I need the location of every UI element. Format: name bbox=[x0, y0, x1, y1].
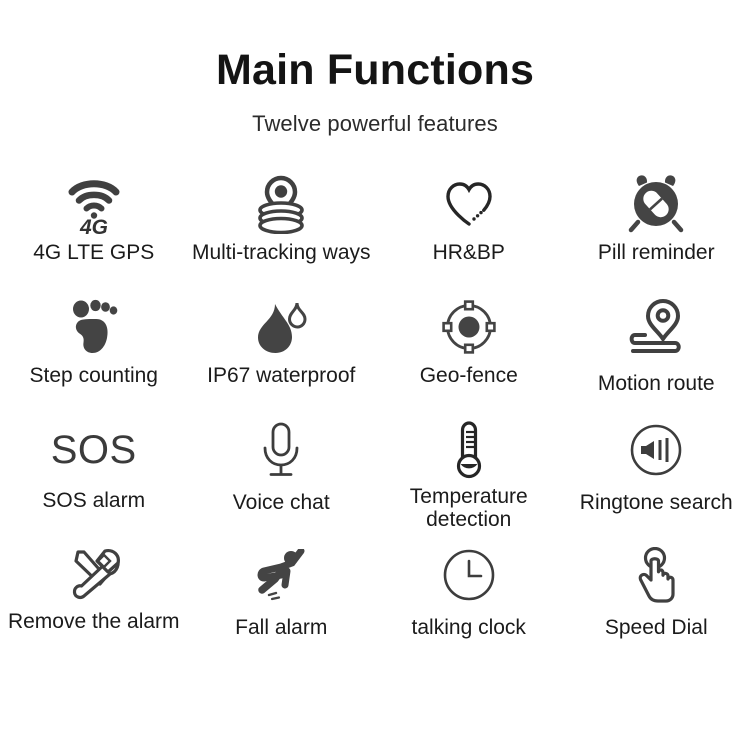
alarm-clock-pill-icon bbox=[625, 169, 687, 237]
feature-label: Pill reminder bbox=[598, 241, 715, 264]
page-title: Main Functions bbox=[0, 48, 750, 93]
feature-item-ip67-waterproof[interactable]: IP67 waterproof bbox=[188, 294, 376, 387]
feature-item-ringtone-search[interactable]: Ringtone search bbox=[563, 419, 750, 514]
feature-label: 4G LTE GPS bbox=[33, 241, 154, 264]
feature-item-step-counting[interactable]: Step counting bbox=[0, 294, 188, 387]
feature-item-sos-alarm[interactable]: SOS SOS alarm bbox=[0, 419, 188, 512]
heart-pulse-icon bbox=[440, 169, 498, 237]
speaker-volume-icon bbox=[630, 419, 682, 481]
wifi-4g-icon: 4G bbox=[64, 169, 124, 237]
feature-item-4g-lte-gps[interactable]: 4G 4G LTE GPS bbox=[0, 169, 188, 264]
feature-item-talking-clock[interactable]: talking clock bbox=[375, 544, 563, 639]
feature-label: Geo-fence bbox=[420, 364, 518, 387]
thermometer-icon bbox=[449, 419, 489, 481]
sos-badge-text: SOS bbox=[51, 430, 137, 470]
footprint-icon bbox=[66, 294, 122, 360]
feature-label: Ringtone search bbox=[580, 491, 733, 514]
feature-label: Motion route bbox=[598, 372, 715, 395]
features-grid: 4G 4G LTE GPS Multi-tracking ways bbox=[0, 169, 750, 669]
clock-icon bbox=[443, 544, 495, 606]
feature-label: SOS alarm bbox=[42, 489, 145, 512]
feature-label: IP67 waterproof bbox=[207, 364, 355, 387]
feature-item-hr-bp[interactable]: HR&BP bbox=[375, 169, 563, 264]
feature-item-geo-fence[interactable]: Geo-fence bbox=[375, 294, 563, 387]
wrench-screwdriver-icon bbox=[64, 544, 124, 606]
page-subtitle: Twelve powerful features bbox=[0, 111, 750, 137]
feature-item-temperature-detection[interactable]: Temperature detection bbox=[375, 419, 563, 531]
falling-person-icon bbox=[251, 544, 311, 606]
geofence-circle-icon bbox=[440, 294, 498, 360]
microphone-icon bbox=[258, 419, 304, 481]
feature-label: Remove the alarm bbox=[8, 610, 180, 633]
feature-item-fall-alarm[interactable]: Fall alarm bbox=[188, 544, 376, 639]
feature-label: talking clock bbox=[412, 616, 526, 639]
tap-hand-icon bbox=[630, 544, 682, 606]
svg-text:4G: 4G bbox=[79, 216, 108, 234]
feature-label: Step counting bbox=[30, 364, 158, 387]
map-pin-layers-icon bbox=[251, 169, 311, 237]
feature-label: Temperature detection bbox=[379, 485, 559, 531]
feature-item-multi-tracking-ways[interactable]: Multi-tracking ways bbox=[188, 169, 376, 264]
feature-label: HR&BP bbox=[433, 241, 505, 264]
feature-item-voice-chat[interactable]: Voice chat bbox=[188, 419, 376, 514]
route-pin-icon bbox=[625, 294, 687, 360]
water-drop-icon bbox=[252, 294, 310, 360]
feature-label: Speed Dial bbox=[605, 616, 708, 639]
feature-label: Voice chat bbox=[233, 491, 330, 514]
main-functions-page: Main Functions Twelve powerful features … bbox=[0, 0, 750, 750]
feature-label: Fall alarm bbox=[235, 616, 327, 639]
feature-label: Multi-tracking ways bbox=[192, 241, 371, 264]
page-header: Main Functions Twelve powerful features bbox=[0, 0, 750, 137]
feature-item-motion-route[interactable]: Motion route bbox=[563, 294, 750, 395]
feature-item-pill-reminder[interactable]: Pill reminder bbox=[563, 169, 750, 264]
feature-item-speed-dial[interactable]: Speed Dial bbox=[563, 544, 750, 639]
feature-item-remove-the-alarm[interactable]: Remove the alarm bbox=[0, 544, 188, 633]
sos-text-icon: SOS bbox=[51, 419, 137, 481]
